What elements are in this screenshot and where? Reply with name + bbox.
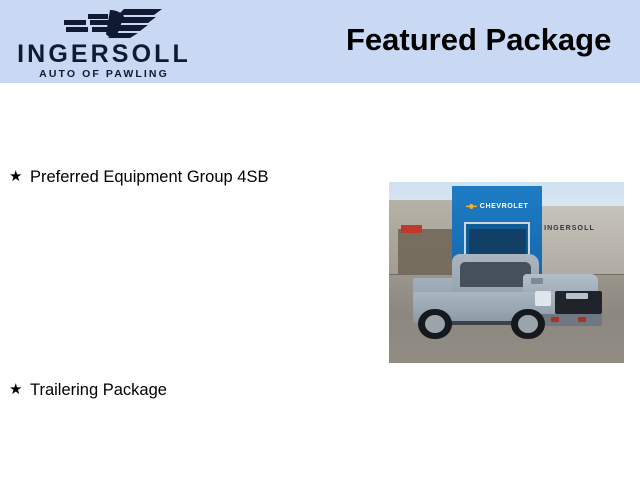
star-icon: ★ bbox=[9, 166, 30, 188]
feature-label: Preferred Equipment Group 4SB bbox=[30, 166, 380, 188]
ingersoll-winged-checkered-flag-emblem bbox=[54, 6, 174, 42]
brand-tagline: AUTO OF PAWLING bbox=[8, 69, 200, 80]
truck-rear-rim bbox=[425, 315, 445, 333]
truck-tow-hook bbox=[551, 317, 559, 322]
ingersoll-brand-logo[interactable]: INGERSOLL AUTO OF PAWLING bbox=[8, 4, 200, 80]
truck-windows bbox=[460, 262, 531, 287]
feature-label: Trailering Package bbox=[30, 379, 380, 401]
truck-front-rim bbox=[518, 315, 538, 333]
chevrolet-bowtie-icon bbox=[466, 204, 477, 209]
page-title: Featured Package bbox=[346, 22, 611, 58]
chevrolet-sign-text: CHEVROLET bbox=[480, 203, 529, 210]
star-icon: ★ bbox=[9, 379, 30, 401]
truck-side-step bbox=[444, 321, 515, 325]
gmc-sierra-truck bbox=[413, 254, 610, 345]
featured-package-slide: INGERSOLL AUTO OF PAWLING Featured Packa… bbox=[0, 0, 640, 480]
page-header: INGERSOLL AUTO OF PAWLING Featured Packa… bbox=[0, 0, 640, 83]
brand-name: INGERSOLL bbox=[8, 42, 200, 67]
truck-tow-hook bbox=[578, 317, 586, 322]
vehicle-photo: INGERSOLL CHEVROLET bbox=[389, 182, 624, 363]
photo-showroom-door-glass bbox=[469, 229, 526, 257]
photo-chevrolet-sign: CHEVROLET bbox=[462, 198, 533, 214]
photo-ingersoll-sign: INGERSOLL bbox=[544, 225, 595, 232]
gmc-badge-icon bbox=[566, 293, 588, 298]
list-item: ★ Preferred Equipment Group 4SB bbox=[0, 166, 380, 188]
featured-package-list: ★ Preferred Equipment Group 4SB ★ Traile… bbox=[0, 166, 380, 401]
truck-headlight bbox=[535, 291, 551, 305]
photo-red-sign bbox=[401, 225, 422, 232]
truck-mirror bbox=[531, 278, 543, 284]
list-item: ★ Trailering Package bbox=[0, 379, 380, 401]
